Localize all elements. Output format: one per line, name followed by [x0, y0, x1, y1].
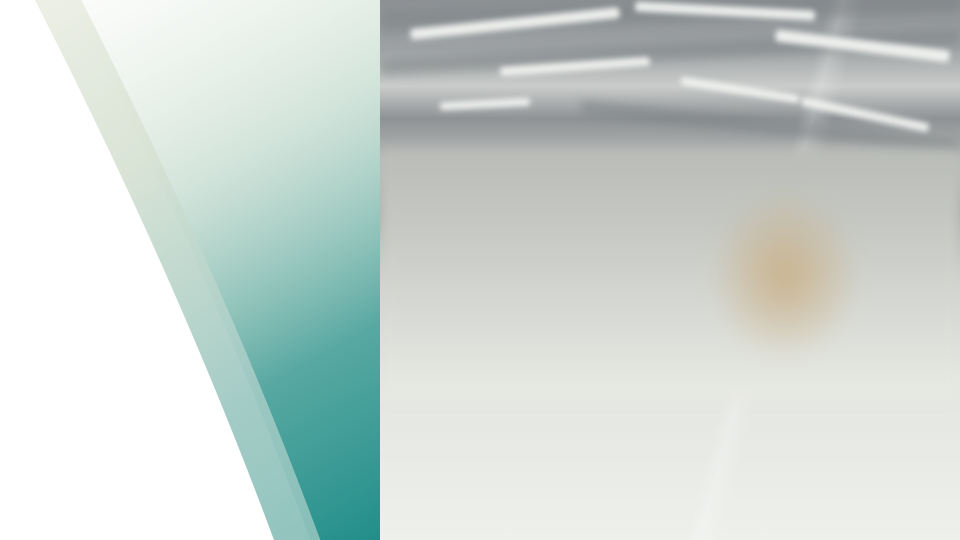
presentation-title-slide: 遵义医科大学第五附属（珠海）医院 ZMU FIFTH HOSPITAL: [0, 0, 960, 540]
photo-background-wall: [380, 150, 960, 400]
hero-photo: [380, 0, 960, 540]
photo-background-warm-light: [710, 190, 860, 360]
background-person-head: [488, 60, 580, 146]
